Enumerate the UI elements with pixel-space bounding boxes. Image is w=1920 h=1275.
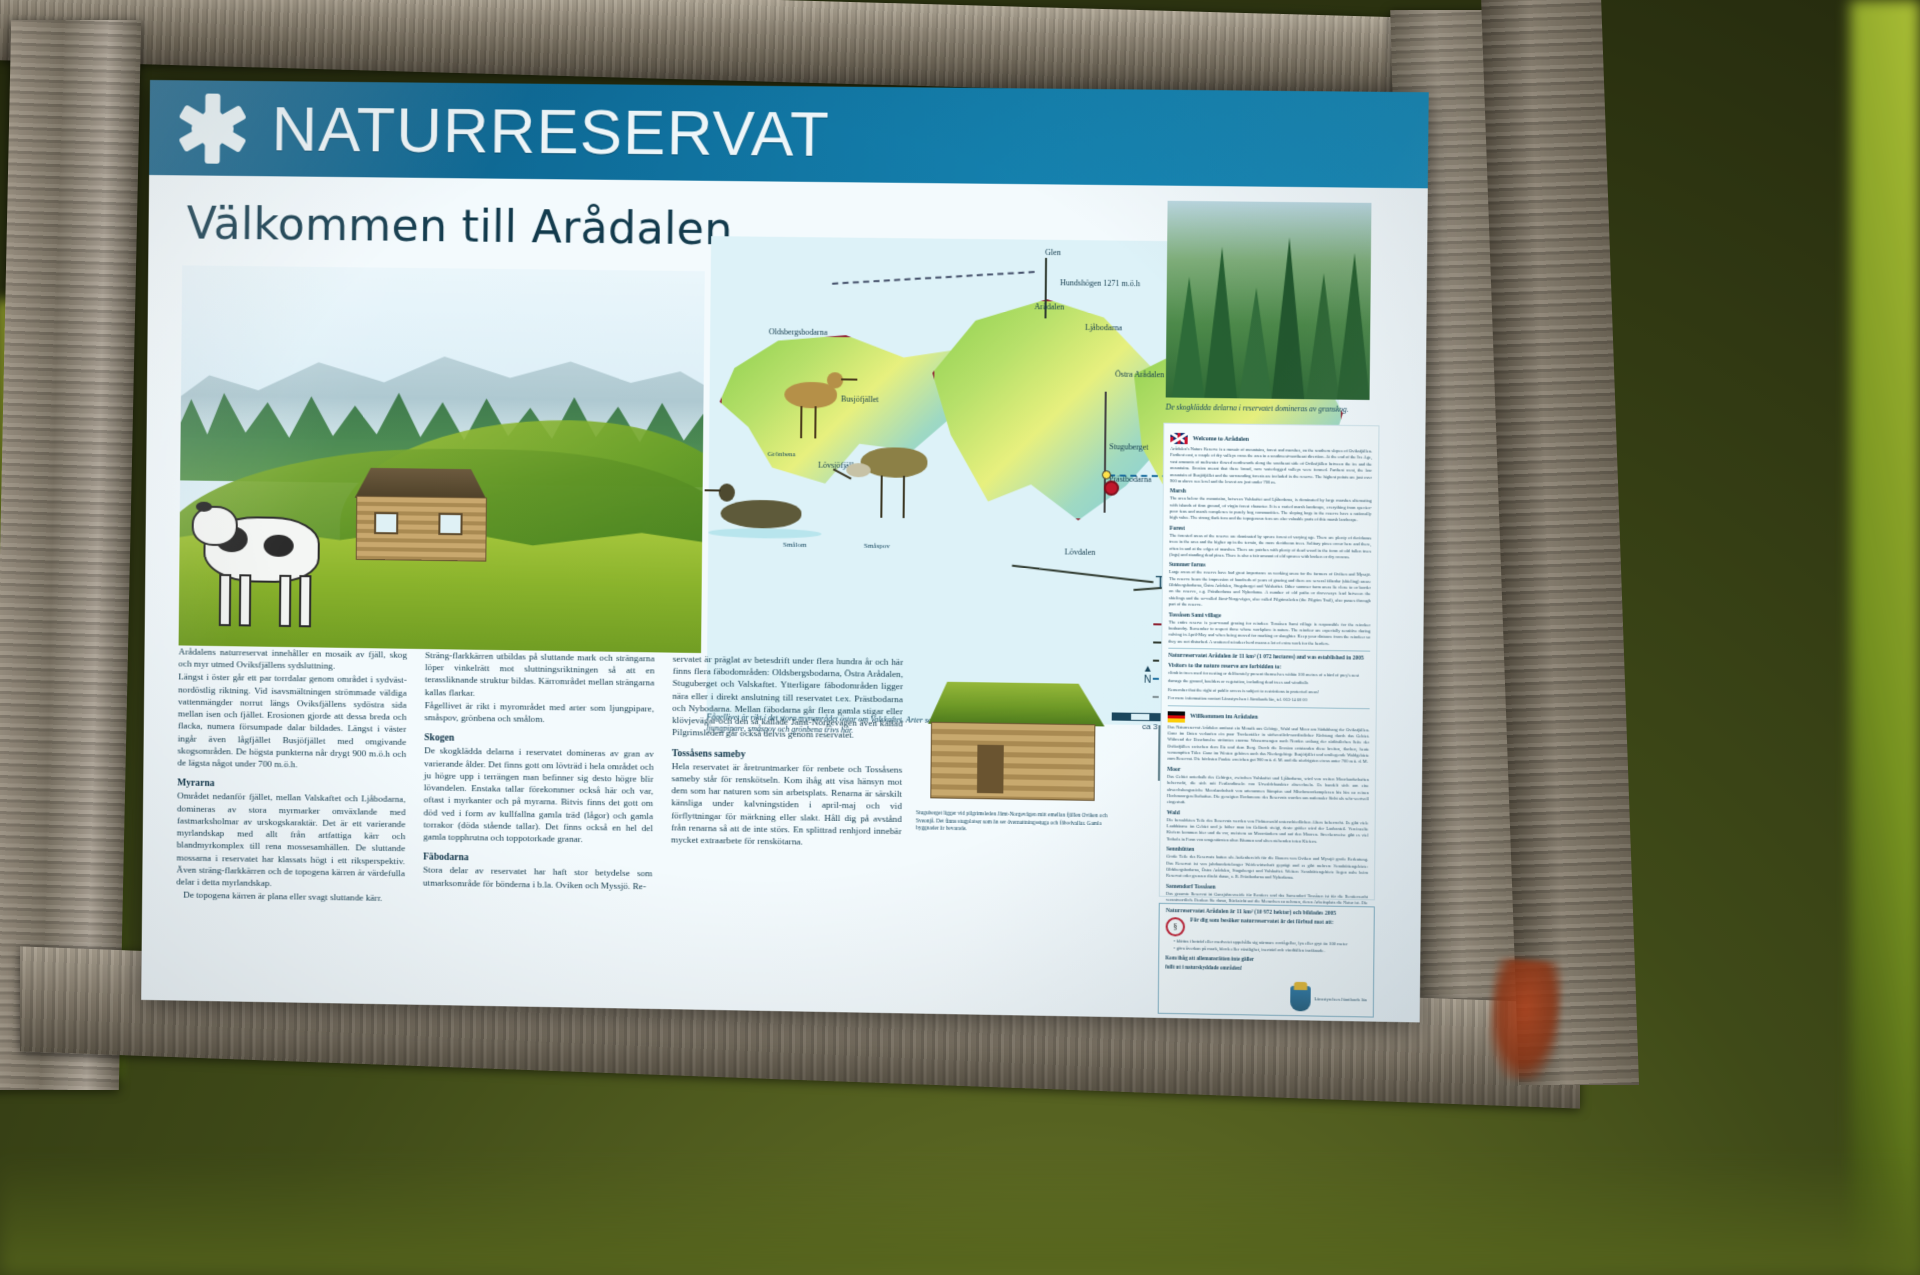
cabin-illustration: [350, 468, 492, 562]
map-fabod-prastbodarna: [1102, 470, 1111, 479]
col2-para-1: Sträng-flarkkärren utbildas på sluttande…: [425, 649, 655, 701]
german-section-header: Willkommen im Arådalen: [1168, 711, 1370, 725]
sign-header-title: NATURRESERVAT: [271, 93, 830, 171]
sign-header-bar: NATURRESERVAT: [149, 80, 1429, 188]
map-label-oldsbergs: Oldsbergsbodarna: [769, 327, 828, 337]
col2-para-2: Fågellivet är rikt i myrområdet med arte…: [424, 699, 654, 727]
de-flag-icon: [1168, 711, 1185, 722]
landscape-illustration: [179, 265, 705, 653]
body-text-columns: Arådalens naturreservat innehåller en mo…: [176, 645, 923, 914]
text-column-3: servatet är präglat av betesdrift under …: [670, 653, 903, 914]
agency-name: Länsstyrelsen Jämtlands län: [1314, 996, 1367, 1003]
forbidden-title: För dig som besöker naturreservatet är d…: [1190, 917, 1334, 925]
col2-para-4: Stora delar av reservatet har haft stor …: [423, 864, 653, 892]
english-section-header: Welcome to Arådalen: [1170, 433, 1372, 447]
agency-badge: Länsstyrelsen Jämtlands län: [1291, 986, 1367, 1013]
map-label-glen: Glen: [1045, 248, 1061, 257]
reserve-area-mid: [931, 298, 1171, 522]
col1-para-3: Området nedanför fjället, mellan Valskaf…: [176, 790, 405, 892]
spruce-forest-photo: [1166, 201, 1372, 400]
col2-para-3: De skogklädda delarna i reservatet domin…: [423, 745, 653, 847]
english-title: Welcome to Arådalen: [1193, 436, 1249, 443]
german-para-3: Die bewaldeten Teile des Reservats werde…: [1166, 817, 1368, 846]
stuguberget-cabin-photo: [916, 681, 1105, 815]
col1-para-1: Arådalens naturreservat innehåller en mo…: [178, 645, 407, 673]
english-para-4: Large areas of the reserve have had grea…: [1169, 569, 1371, 610]
text-column-1: Arådalens naturreservat innehåller en mo…: [176, 645, 407, 905]
map-you-are-here-pin: [1104, 480, 1119, 495]
snowflake-icon: [179, 92, 246, 165]
english-facts-title: Naturreservatet Arådalen är 11 km² (1 07…: [1168, 653, 1370, 662]
bird-smaspov-illustration: [840, 429, 952, 541]
bird-smalom-illustration: [708, 477, 820, 549]
remember-line-2: fullt ut i naturskyddade områden!: [1165, 964, 1367, 974]
information-sign-panel: NATURRESERVAT Välkommen till Arådalen: [141, 80, 1429, 1022]
map-label-aradalen: Arådalen: [1034, 302, 1064, 311]
col1-para-2: Längst i öster går ett par torrdalar gen…: [177, 671, 406, 772]
welcome-title: Välkommen till Arådalen: [186, 198, 733, 255]
col3-para-1: servatet är präglat av betesdrift under …: [672, 653, 903, 743]
english-para-5: The entire reserve is year-round grazing…: [1168, 619, 1370, 648]
german-title: Willkommen im Arådalen: [1190, 714, 1258, 721]
col1-para-4: De topogena kärren är plana eller svagt …: [176, 889, 405, 905]
regulations-box: Naturreservatet Arådalen är 11 km² (10 9…: [1158, 903, 1375, 1018]
remember-line-1: Kom ihåg att allemansrätten inte gäller: [1165, 955, 1367, 965]
english-para-1: Arådalen's Nature Reserve is a mosaic of…: [1170, 446, 1372, 487]
multilingual-info-panel: Welcome to Arådalen Arådalen's Nature Re…: [1159, 423, 1380, 901]
frame-plank-left: [0, 20, 141, 1090]
col3-para-2: Hela reservatet är åretruntmarker för re…: [671, 760, 902, 850]
german-para-4: Große Teile des Reservats hatten als Auß…: [1166, 854, 1368, 883]
map-label-hundshogen: Hundshögen 1271 m.ö.h: [1060, 278, 1140, 288]
map-label-ljabodarna: Ljåbodarna: [1085, 323, 1122, 333]
facts-heading: Naturreservatet Arådalen är 11 km² (10 9…: [1166, 908, 1368, 917]
county-crest-icon: [1291, 986, 1312, 1012]
english-para-2: The area below the mountains, between Va…: [1170, 496, 1372, 524]
map-label-lovdalen: Lövdalen: [1065, 547, 1096, 556]
bird-label-smalom: Smålom: [783, 541, 807, 549]
foliage-bottom: [0, 1155, 1920, 1275]
outdoor-scene: NATURRESERVAT Välkommen till Arådalen: [0, 0, 1920, 1275]
uk-flag-icon: [1170, 433, 1187, 444]
map-label-stuguberget: Stuguberget: [1109, 442, 1148, 452]
cow-illustration: [197, 498, 328, 630]
text-column-2: Sträng-flarkkärren utbildas på sluttande…: [423, 649, 655, 910]
cabin-caption: Stuguberget ligger vid pilgrimsleden Jäm…: [916, 810, 1119, 836]
english-contact: For more information contact Länsstyrels…: [1168, 695, 1370, 704]
north-arrow-icon: ▲ N: [1143, 664, 1153, 685]
rust-stain: [1486, 958, 1564, 1083]
german-para-2: Das Gebiet unterhalb des Gebirges, zwisc…: [1167, 774, 1369, 809]
german-para-1: Das Naturreservat Arådalen umfasst ein M…: [1167, 724, 1369, 766]
no-entry-paragraph-icon: §: [1166, 917, 1186, 936]
english-para-3: The forested areas of the reserve are do…: [1169, 532, 1371, 560]
bird-label-smaspov: Småspov: [864, 542, 890, 550]
bird-label-gronbena: Grönbena: [768, 450, 796, 458]
map-label-ostra: Östra Arådalen: [1115, 370, 1164, 380]
foliage-right: [1850, 0, 1920, 1275]
